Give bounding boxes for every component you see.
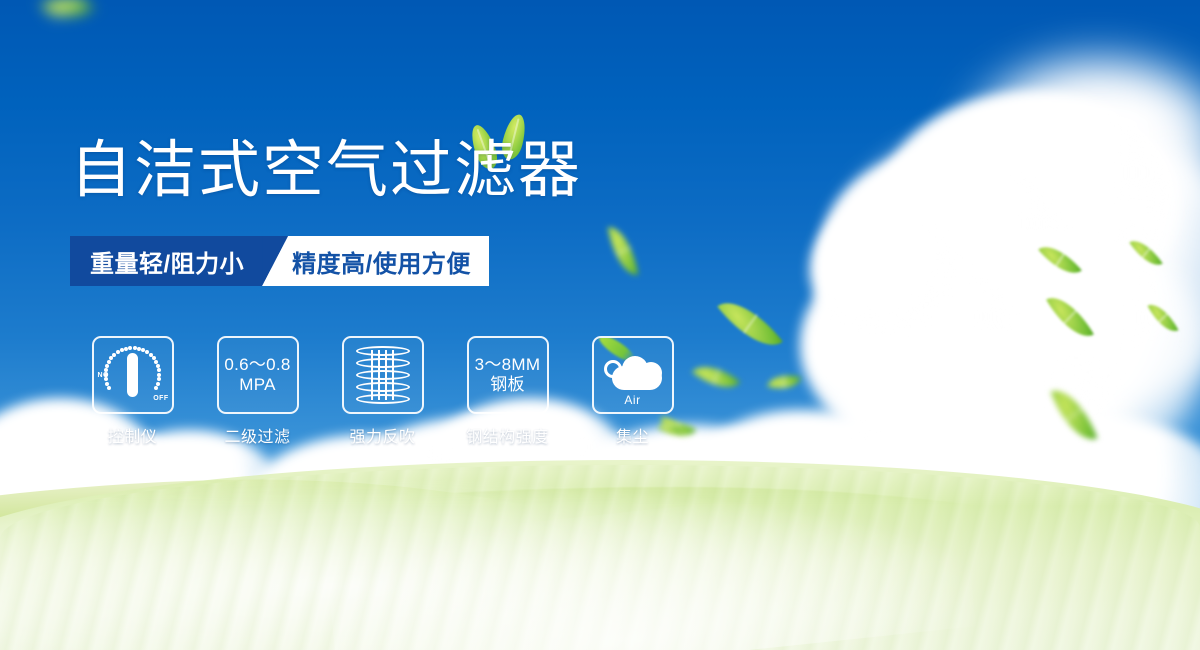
air-cloud-icon: Air	[600, 346, 666, 404]
coil-ring	[356, 382, 410, 392]
feature-icon-box: NO OFF	[92, 336, 174, 414]
feature-item-controller[interactable]: NO OFF 控制仪	[70, 336, 195, 447]
coil-ring	[356, 346, 410, 356]
pressure-range: 0.6～0.8	[224, 355, 290, 375]
tagline-bar: 重量轻/阻力小 精度高/使用方便	[70, 236, 489, 286]
air-label: Air	[600, 393, 666, 407]
cloud	[800, 250, 1020, 440]
feature-item-dust[interactable]: Air 集尘	[570, 336, 695, 447]
coil-ring	[356, 358, 410, 368]
gauge-tick	[112, 353, 116, 357]
gauge-tick	[154, 386, 158, 390]
coil-ring	[356, 370, 410, 380]
gauge-tick	[157, 368, 161, 372]
cloud	[820, 150, 1070, 360]
cloud-body	[612, 366, 662, 390]
gauge-tick	[107, 360, 111, 364]
gauge-tick	[157, 373, 161, 377]
gauge-tick	[157, 377, 161, 381]
filter-coil-icon	[356, 346, 410, 404]
feature-label: 控制仪	[108, 423, 158, 447]
cloud	[830, 118, 1200, 418]
gauge-needle	[127, 353, 138, 397]
feature-list: NO OFF 控制仪 0.6～0.8 MPA 二级过滤	[70, 336, 695, 447]
cloud	[970, 60, 1200, 240]
gauge-tick	[156, 382, 160, 386]
gauge-tick	[105, 382, 109, 386]
gauge-icon: NO OFF	[102, 344, 164, 406]
pressure-unit: MPA	[224, 375, 290, 395]
coil-ring	[356, 394, 410, 404]
gauge-tick	[107, 386, 111, 390]
cloud	[810, 205, 960, 335]
feature-icon-box: 3～8MM 钢板	[467, 336, 549, 414]
feature-item-two-stage[interactable]: 0.6～0.8 MPA 二级过滤	[195, 336, 320, 447]
gauge-tick	[104, 377, 108, 381]
cloud	[870, 230, 1200, 480]
feature-item-backblow[interactable]: 强力反吹	[320, 336, 445, 447]
tagline-divider	[262, 236, 288, 286]
tagline-right: 精度高/使用方便	[288, 236, 489, 286]
gauge-tick	[128, 346, 132, 350]
page-title: 自洁式空气过滤器	[70, 140, 582, 202]
gauge-tick	[105, 364, 109, 368]
gauge-tick	[104, 373, 108, 377]
feature-label: 二级过滤	[224, 423, 290, 447]
feature-icon-box: 0.6～0.8 MPA	[217, 336, 299, 414]
tagline-left: 重量轻/阻力小	[70, 236, 274, 286]
gauge-label-off: OFF	[153, 395, 168, 402]
hero-banner: 自洁式空气过滤器 重量轻/阻力小 精度高/使用方便 NO OFF 控制仪 0.6…	[0, 0, 1200, 650]
feature-label: 钢结构强度	[466, 423, 549, 447]
pressure-icon: 0.6～0.8 MPA	[224, 355, 290, 394]
feature-item-steel[interactable]: 3～8MM 钢板 钢结构强度	[445, 336, 570, 447]
feature-label: 集尘	[616, 423, 649, 447]
steel-material: 钢板	[475, 375, 541, 395]
feature-icon-box: Air	[592, 336, 674, 414]
cloud	[880, 92, 1180, 322]
steel-plate-icon: 3～8MM 钢板	[475, 355, 541, 394]
feature-label: 强力反吹	[349, 423, 415, 447]
gauge-tick	[116, 350, 120, 354]
feature-icon-box	[342, 336, 424, 414]
steel-thickness: 3～8MM	[475, 355, 541, 375]
